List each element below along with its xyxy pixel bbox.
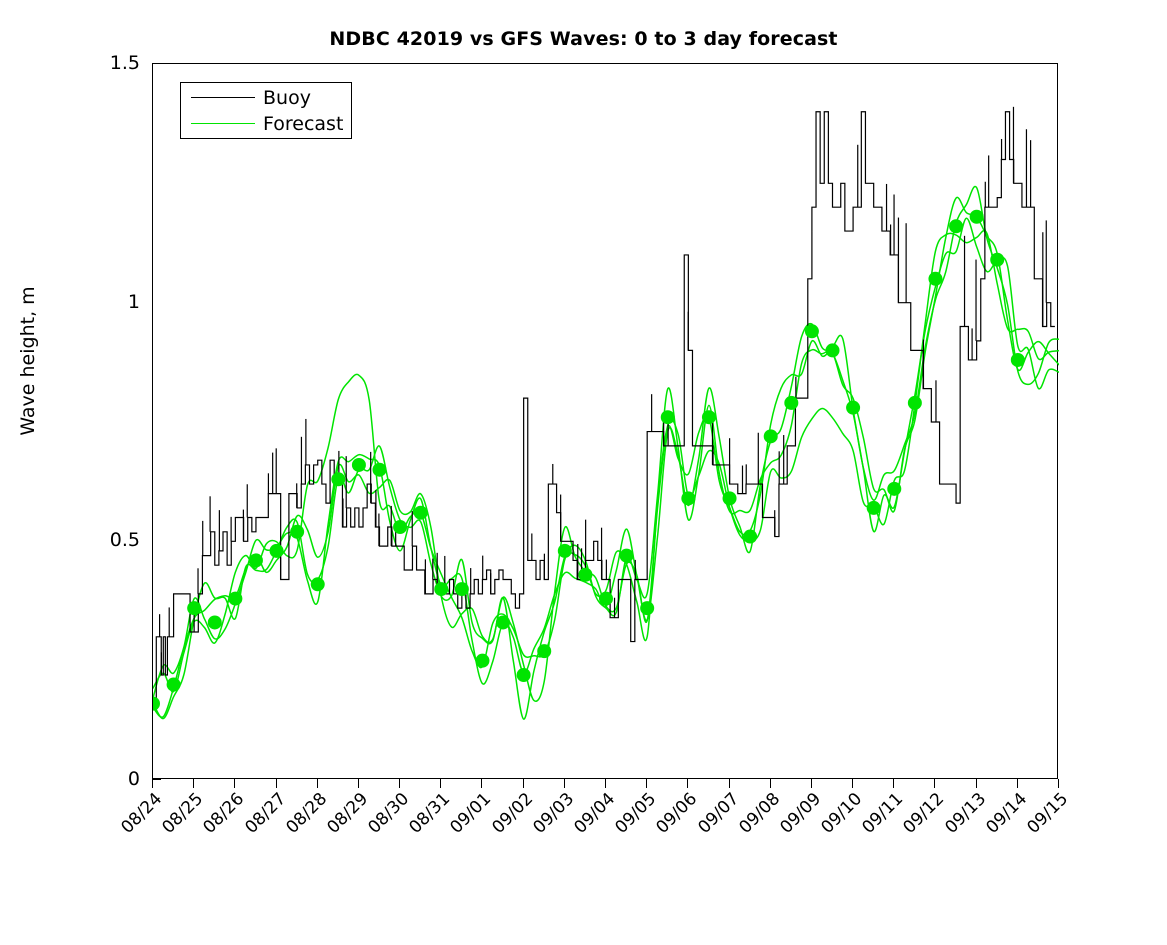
forecast-data-point bbox=[867, 501, 881, 515]
x-tick-mark bbox=[317, 779, 318, 788]
forecast-data-point bbox=[661, 410, 675, 424]
forecast-data-point bbox=[887, 482, 901, 496]
forecast-data-point bbox=[373, 463, 387, 477]
forecast-data-point bbox=[558, 544, 572, 558]
legend-label-forecast: Forecast bbox=[263, 111, 343, 137]
forecast-member-path bbox=[153, 197, 1059, 691]
x-tick-mark bbox=[276, 779, 277, 788]
forecast-data-point bbox=[270, 544, 284, 558]
forecast-data-point bbox=[640, 601, 654, 615]
forecast-ensemble-lines bbox=[153, 186, 1059, 719]
x-tick-mark bbox=[440, 779, 441, 788]
forecast-data-point bbox=[249, 553, 263, 567]
forecast-data-point bbox=[352, 458, 366, 472]
forecast-data-point bbox=[578, 568, 592, 582]
chart-figure: NDBC 42019 vs GFS Waves: 0 to 3 day fore… bbox=[0, 0, 1167, 875]
y-axis-label: Wave height, m bbox=[17, 81, 39, 641]
forecast-data-point bbox=[331, 472, 345, 486]
forecast-data-point bbox=[826, 343, 840, 357]
y-tick-label: 0 bbox=[30, 768, 140, 790]
forecast-data-point bbox=[311, 577, 325, 591]
legend-item-forecast[interactable]: Forecast bbox=[181, 111, 353, 137]
page-title: NDBC 42019 vs GFS Waves: 0 to 3 day fore… bbox=[0, 28, 1167, 50]
forecast-data-point bbox=[990, 253, 1004, 267]
x-tick-mark bbox=[605, 779, 606, 788]
forecast-data-point bbox=[434, 582, 448, 596]
x-tick-mark bbox=[564, 779, 565, 788]
legend-item-buoy[interactable]: Buoy bbox=[181, 85, 353, 111]
forecast-data-point bbox=[620, 549, 634, 563]
x-tick-mark bbox=[646, 779, 647, 788]
forecast-data-point bbox=[537, 644, 551, 658]
legend-label-buoy: Buoy bbox=[263, 85, 311, 111]
forecast-data-point bbox=[970, 210, 984, 224]
forecast-data-point bbox=[599, 592, 613, 606]
forecast-member-path bbox=[153, 218, 1059, 719]
forecast-data-point bbox=[393, 520, 407, 534]
forecast-data-point bbox=[455, 582, 469, 596]
legend[interactable]: Buoy Forecast bbox=[180, 82, 352, 139]
x-tick-mark bbox=[399, 779, 400, 788]
forecast-data-point bbox=[153, 697, 160, 711]
x-tick-mark bbox=[976, 779, 977, 788]
forecast-data-point bbox=[743, 530, 757, 544]
forecast-member-path bbox=[153, 186, 1059, 697]
x-tick-mark bbox=[523, 779, 524, 788]
forecast-data-point bbox=[208, 615, 222, 629]
x-tick-mark bbox=[152, 779, 153, 788]
forecast-data-point bbox=[723, 491, 737, 505]
x-tick-mark bbox=[852, 779, 853, 788]
y-tick-label: 1 bbox=[30, 291, 140, 313]
forecast-data-point bbox=[167, 678, 181, 692]
forecast-data-point bbox=[928, 272, 942, 286]
plot-area bbox=[152, 63, 1058, 779]
x-tick-mark bbox=[687, 779, 688, 788]
forecast-data-point bbox=[414, 506, 428, 520]
plot-canvas bbox=[153, 64, 1059, 780]
x-tick-mark bbox=[811, 779, 812, 788]
x-tick-mark bbox=[729, 779, 730, 788]
forecast-data-point bbox=[702, 410, 716, 424]
x-tick-mark bbox=[481, 779, 482, 788]
x-tick-mark bbox=[934, 779, 935, 788]
x-tick-mark bbox=[1017, 779, 1018, 788]
x-tick-mark bbox=[893, 779, 894, 788]
forecast-data-point bbox=[681, 491, 695, 505]
forecast-data-point bbox=[228, 592, 242, 606]
forecast-data-point bbox=[846, 401, 860, 415]
x-tick-mark bbox=[358, 779, 359, 788]
forecast-data-point bbox=[496, 615, 510, 629]
x-tick-mark bbox=[770, 779, 771, 788]
forecast-daily-markers bbox=[153, 210, 1025, 711]
y-tick-label: 0.5 bbox=[30, 529, 140, 551]
forecast-data-point bbox=[187, 601, 201, 615]
forecast-member-path bbox=[153, 231, 1059, 718]
forecast-data-point bbox=[784, 396, 798, 410]
forecast-data-point bbox=[1011, 353, 1025, 367]
y-tick-label: 1.5 bbox=[30, 52, 140, 74]
forecast-data-point bbox=[805, 324, 819, 338]
forecast-line-swatch bbox=[191, 123, 255, 124]
buoy-line-swatch bbox=[191, 97, 255, 98]
forecast-data-point bbox=[290, 525, 304, 539]
x-tick-mark bbox=[1058, 779, 1059, 788]
forecast-data-point bbox=[517, 668, 531, 682]
forecast-data-point bbox=[764, 429, 778, 443]
forecast-data-point bbox=[908, 396, 922, 410]
forecast-data-point bbox=[475, 654, 489, 668]
x-tick-mark bbox=[234, 779, 235, 788]
forecast-data-point bbox=[949, 219, 963, 233]
x-tick-mark bbox=[193, 779, 194, 788]
